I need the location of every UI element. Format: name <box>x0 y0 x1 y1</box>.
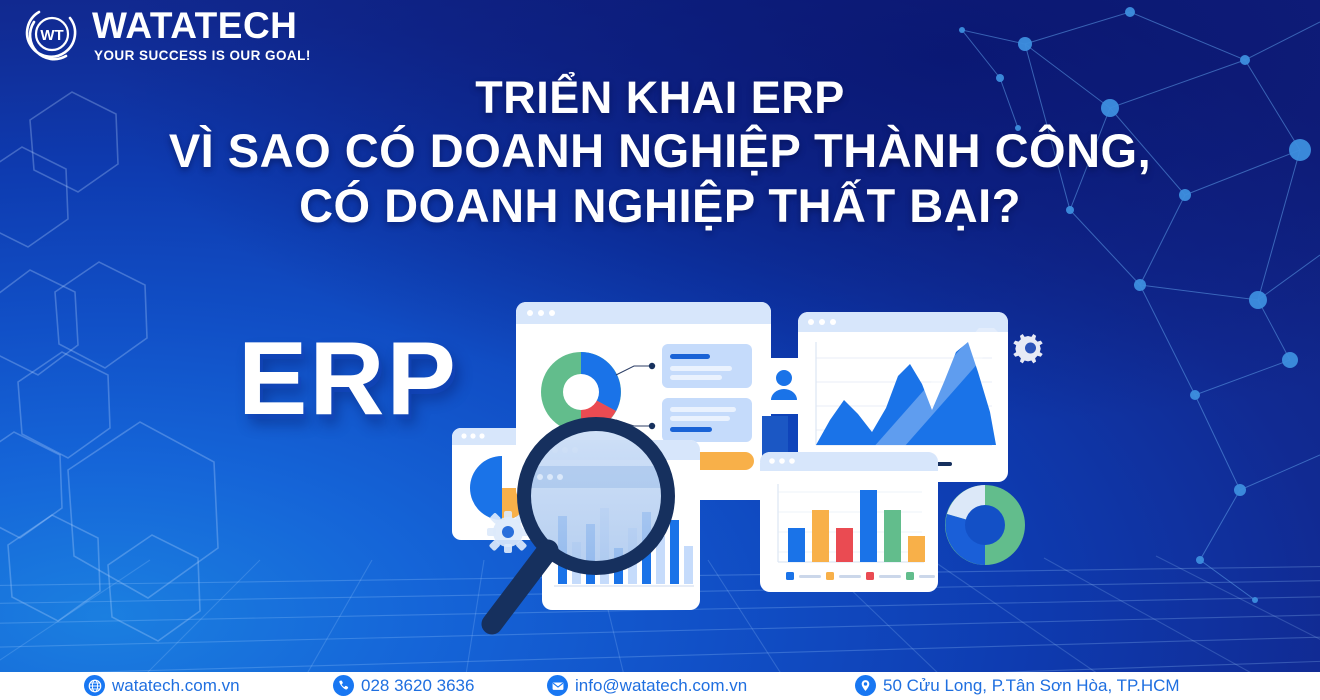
info-card-top <box>662 344 752 388</box>
brand-logo-text: WATATECH YOUR SUCCESS IS OUR GOAL! <box>92 5 311 63</box>
globe-icon <box>84 675 105 696</box>
footer-phone[interactable]: 028 3620 3636 <box>333 675 474 696</box>
footer-phone-text: 028 3620 3636 <box>361 676 474 696</box>
headline-line-2: VÌ SAO CÓ DOANH NGHIỆP THÀNH CÔNG, <box>0 124 1320 179</box>
brand-logo: WT WATATECH YOUR SUCCESS IS OUR GOAL! <box>22 4 311 64</box>
location-pin-icon <box>855 675 876 696</box>
contact-footer: watatech.com.vn 028 3620 3636 info@watat… <box>0 672 1320 700</box>
footer-address[interactable]: 50 Cửu Long, P.Tân Sơn Hòa, TP.HCM <box>855 675 1180 696</box>
brand-name: WATATECH <box>92 7 311 44</box>
gear-icon-right <box>1013 334 1042 363</box>
footer-email-text: info@watatech.com.vn <box>575 676 747 696</box>
page-title: TRIỂN KHAI ERP VÌ SAO CÓ DOANH NGHIỆP TH… <box>0 72 1320 233</box>
erp-dashboard-illustration <box>430 280 1090 640</box>
logo-mark-text: WT <box>40 27 63 44</box>
bar-chart-window <box>760 452 938 592</box>
footer-website[interactable]: watatech.com.vn <box>84 675 240 696</box>
standalone-donut <box>945 485 1025 565</box>
headline-line-3: CÓ DOANH NGHIỆP THẤT BẠI? <box>0 179 1320 234</box>
watatech-logo-icon: WT <box>22 4 82 64</box>
envelope-icon <box>547 675 568 696</box>
phone-icon <box>333 675 354 696</box>
erp-wordmark: ERP <box>238 327 458 431</box>
info-card-bottom <box>662 398 752 442</box>
brand-slogan: YOUR SUCCESS IS OUR GOAL! <box>92 49 311 63</box>
footer-website-text: watatech.com.vn <box>112 676 240 696</box>
erp-marketing-banner: WT WATATECH YOUR SUCCESS IS OUR GOAL! TR… <box>0 0 1320 700</box>
headline-line-1: TRIỂN KHAI ERP <box>0 72 1320 124</box>
footer-email[interactable]: info@watatech.com.vn <box>547 675 747 696</box>
footer-address-text: 50 Cửu Long, P.Tân Sơn Hòa, TP.HCM <box>883 676 1180 696</box>
